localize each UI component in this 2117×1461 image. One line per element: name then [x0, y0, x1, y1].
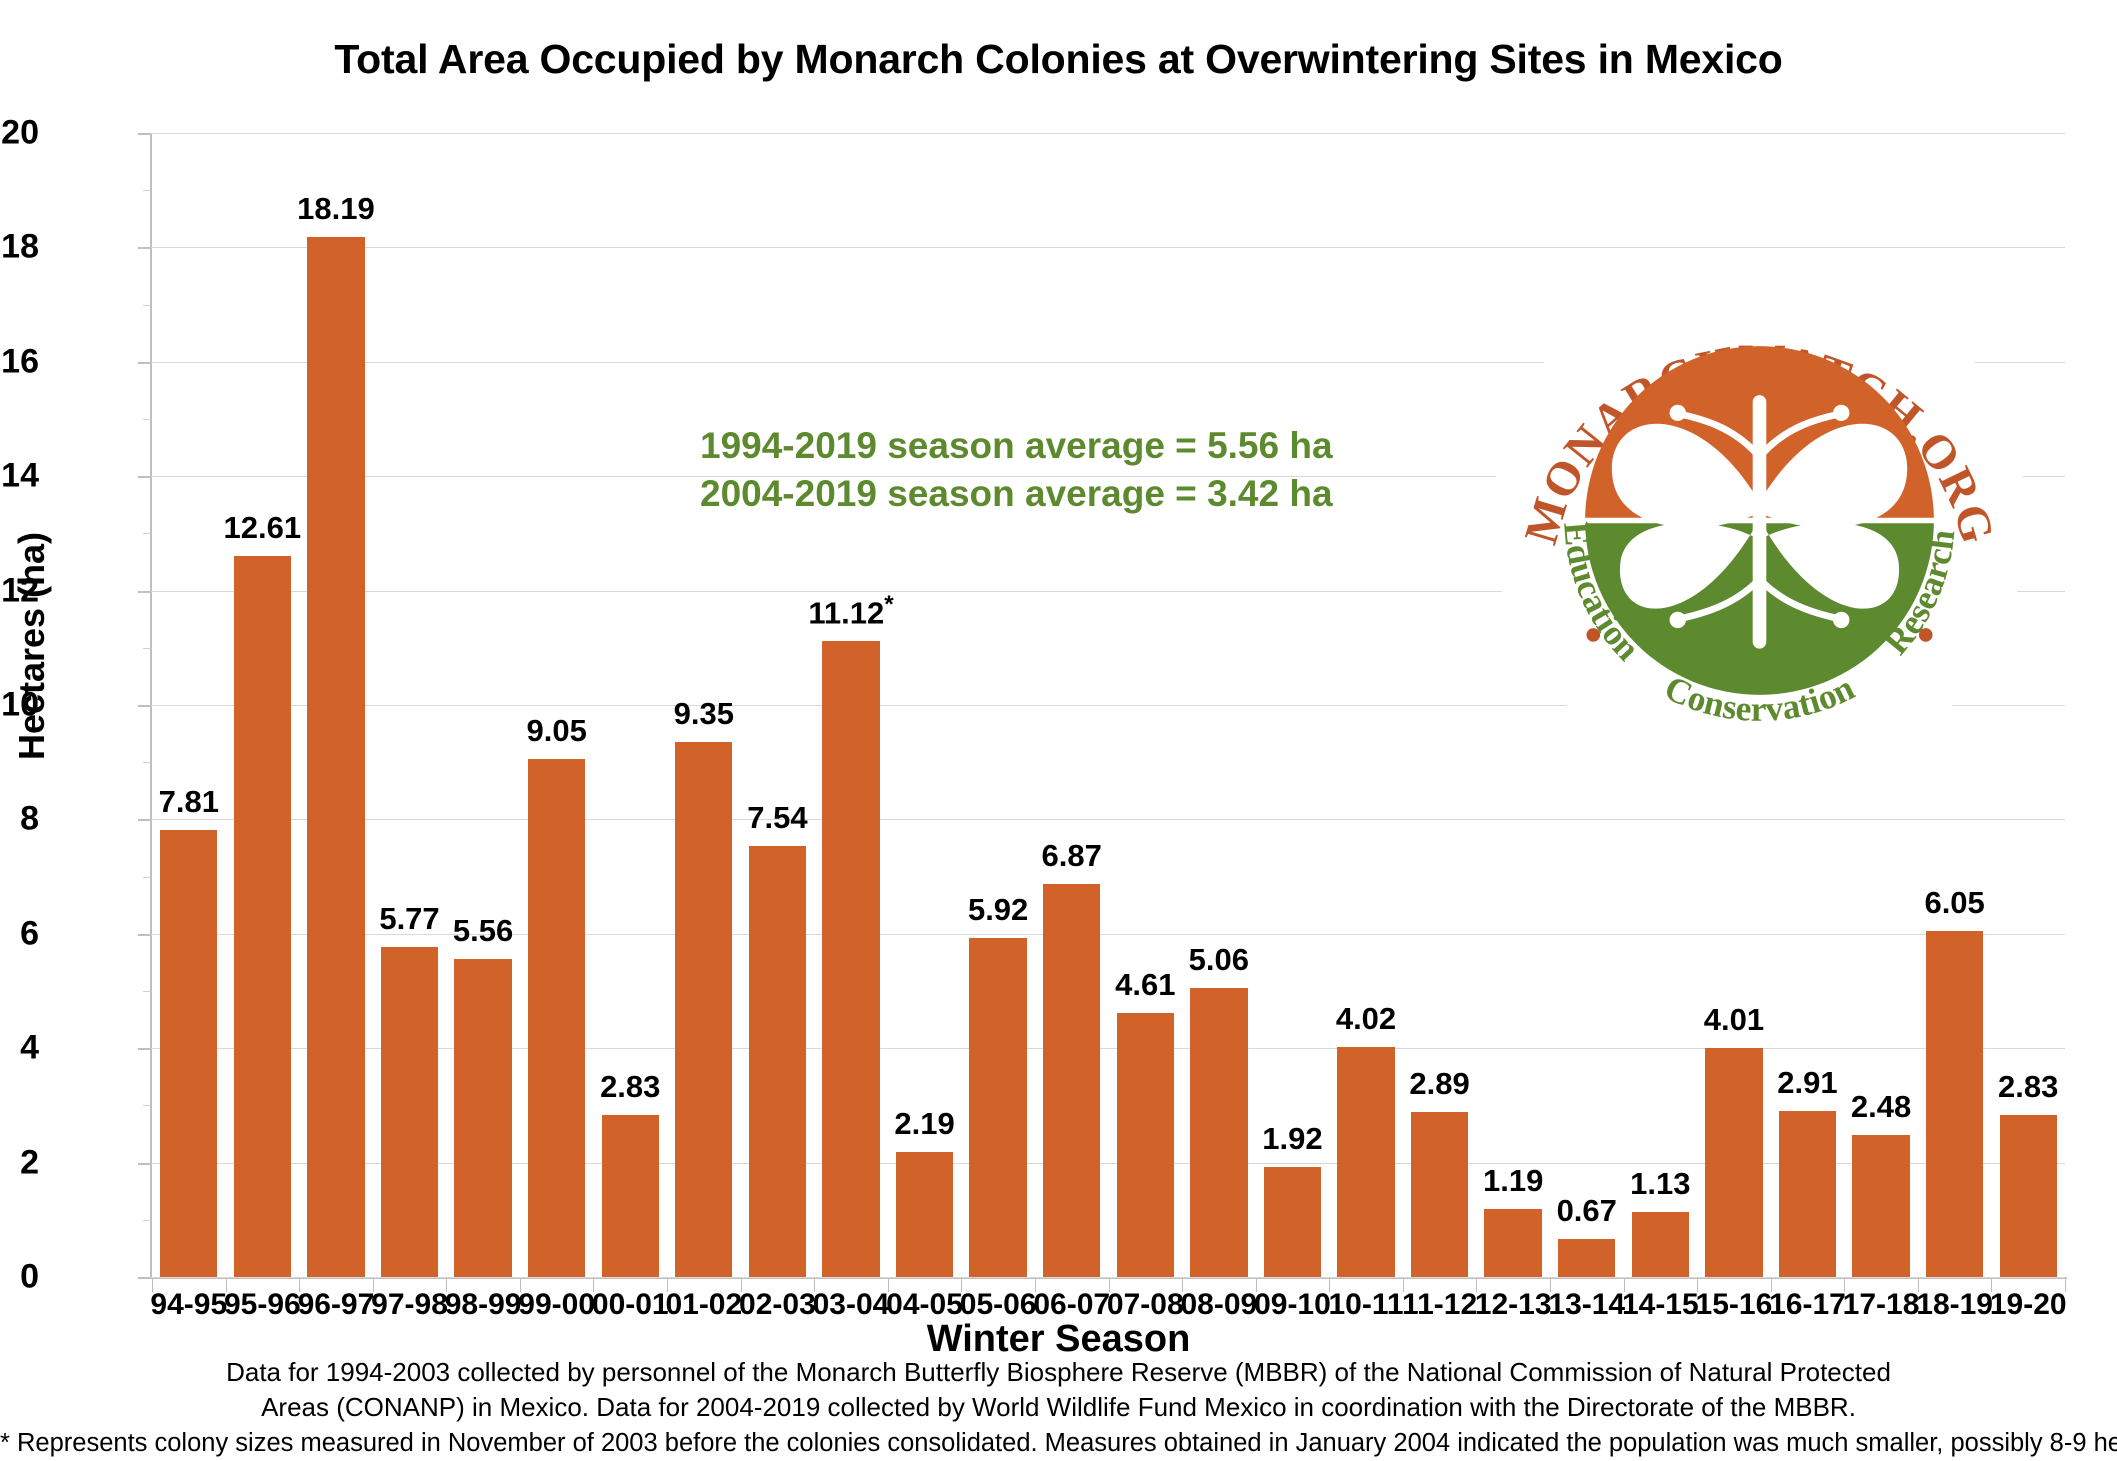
bar-slot: 9.05: [520, 133, 594, 1277]
x-axis-tick-label: 94-95: [150, 1288, 227, 1322]
bar[interactable]: [2000, 1115, 2057, 1277]
x-axis-tick-label: 13-14: [1548, 1288, 1625, 1322]
bar-value-label: 9.05: [526, 713, 586, 749]
bar-value-label: 1.92: [1262, 1121, 1322, 1157]
bar-value-label: 2.19: [894, 1106, 954, 1142]
season-average-annotations: 1994-2019 season average = 5.56 ha 2004-…: [700, 422, 1333, 518]
x-axis-tick-label: 07-08: [1107, 1288, 1184, 1322]
bar-slot: 2.83: [593, 133, 667, 1277]
bar-slot: 5.56: [446, 133, 520, 1277]
x-axis-tick-label: 02-03: [739, 1288, 816, 1322]
bar[interactable]: [749, 846, 806, 1277]
y-tick-major: [138, 133, 151, 135]
bar-value-label: 1.13: [1630, 1166, 1690, 1202]
y-axis-tick-label: 20: [0, 114, 39, 153]
bar-slot: 1.92: [1256, 133, 1330, 1277]
footnote-line-1: Data for 1994-2003 collected by personne…: [0, 1355, 2117, 1390]
y-tick-minor: [143, 190, 151, 191]
bar[interactable]: [675, 742, 732, 1277]
bar[interactable]: [1852, 1135, 1909, 1277]
bar[interactable]: [1411, 1112, 1468, 1277]
y-tick-major: [138, 476, 151, 478]
bar-slot: 4.61: [1109, 133, 1183, 1277]
bar-slot: 4.02: [1329, 133, 1403, 1277]
annotation-2004-2019: 2004-2019 season average = 3.42 ha: [700, 470, 1333, 518]
bar[interactable]: [454, 959, 511, 1277]
y-axis-tick-label: 6: [0, 914, 39, 953]
bar-value-label: 2.91: [1777, 1065, 1837, 1101]
x-axis-tick-label: 96-97: [298, 1288, 375, 1322]
bar-slot: 5.92: [961, 133, 1035, 1277]
bar-value-label: 6.87: [1042, 838, 1102, 874]
bar-slot: 2.89: [1403, 133, 1477, 1277]
x-axis-tick-label: 05-06: [960, 1288, 1037, 1322]
y-axis-tick-label: 2: [0, 1143, 39, 1182]
y-tick-minor: [143, 419, 151, 420]
x-axis-tick-label: 04-05: [886, 1288, 963, 1322]
bar-value-label: 4.02: [1336, 1001, 1396, 1037]
bar[interactable]: [528, 759, 585, 1277]
y-tick-major: [138, 1163, 151, 1165]
y-tick-major: [138, 934, 151, 936]
bar[interactable]: [307, 237, 364, 1277]
y-tick-minor: [143, 762, 151, 763]
bar-value-label: 9.35: [674, 696, 734, 732]
bar[interactable]: [969, 938, 1026, 1277]
bar[interactable]: [602, 1115, 659, 1277]
bar-slot: 11.12*: [814, 133, 888, 1277]
y-tick-minor: [143, 991, 151, 992]
bar[interactable]: [1337, 1047, 1394, 1277]
x-axis-tick-label: 12-13: [1475, 1288, 1552, 1322]
bar-slot: 9.35: [667, 133, 741, 1277]
bar[interactable]: [234, 556, 291, 1277]
x-axis-tick-label: 18-19: [1916, 1288, 1993, 1322]
bar-slot: 18.19: [299, 133, 373, 1277]
bar-value-label: 5.56: [453, 913, 513, 949]
x-axis-tick-label: 10-11: [1328, 1288, 1403, 1322]
bar-value-label: 2.48: [1851, 1089, 1911, 1125]
x-axis-tick-label: 15-16: [1696, 1288, 1773, 1322]
bar-value-label: 12.61: [224, 510, 302, 546]
bar[interactable]: [1264, 1167, 1321, 1277]
bar-slot: 12.61: [226, 133, 300, 1277]
monarch-watch-logo: MONARCHWATCH.ORG Education Conservation …: [1487, 248, 2032, 793]
x-axis-tick-label: 11-12: [1402, 1288, 1477, 1322]
footnote-line-3: * Represents colony sizes measured in No…: [0, 1426, 2117, 1461]
bar-value-label: 5.77: [379, 901, 439, 937]
y-tick-minor: [143, 1105, 151, 1106]
page-title: Total Area Occupied by Monarch Colonies …: [0, 36, 2117, 83]
bar[interactable]: [1117, 1013, 1174, 1277]
y-tick-minor: [143, 648, 151, 649]
bar[interactable]: [1484, 1209, 1541, 1277]
x-axis-tick-label: 01-02: [665, 1288, 742, 1322]
bar-value-label: 4.61: [1115, 967, 1175, 1003]
x-axis-tick-label: 00-01: [592, 1288, 669, 1322]
footnote-line-2: Areas (CONANP) in Mexico. Data for 2004-…: [0, 1390, 2117, 1425]
logo-svg: MONARCHWATCH.ORG Education Conservation …: [1487, 248, 2032, 793]
bar[interactable]: [1190, 988, 1247, 1277]
bar-value-label: 6.05: [1924, 885, 1984, 921]
annotation-1994-2019: 1994-2019 season average = 5.56 ha: [700, 422, 1333, 470]
bar[interactable]: [1043, 884, 1100, 1277]
bar-value-label: 5.06: [1189, 942, 1249, 978]
y-tick-major: [138, 591, 151, 593]
x-axis-tick-label: 08-09: [1180, 1288, 1257, 1322]
bar-value-label: 2.89: [1409, 1066, 1469, 1102]
y-axis-tick-label: 16: [0, 342, 39, 381]
bar-value-label: 1.19: [1483, 1163, 1543, 1199]
bar-value-label: 7.81: [159, 784, 219, 820]
bar-value-label: 11.12*: [808, 591, 893, 631]
y-axis-tick-label: 0: [0, 1258, 39, 1297]
bar-value-label: 2.83: [600, 1069, 660, 1105]
bar-value-label: 5.92: [968, 892, 1028, 928]
bar-slot: 5.06: [1182, 133, 1256, 1277]
bar-value-label: 0.67: [1557, 1193, 1617, 1229]
bar[interactable]: [1779, 1111, 1836, 1277]
x-axis-tick-label: 95-96: [224, 1288, 301, 1322]
y-tick-major: [138, 705, 151, 707]
x-axis-tick-label: 03-04: [813, 1288, 890, 1322]
bar-value-label: 7.54: [747, 800, 807, 836]
x-axis-tick-label: 06-07: [1033, 1288, 1110, 1322]
y-tick-major: [138, 362, 151, 364]
bar-slot: 7.81: [152, 133, 226, 1277]
x-axis-tick-label: 17-18: [1843, 1288, 1920, 1322]
x-axis-tick-label: 98-99: [445, 1288, 522, 1322]
bar-slot: 6.87: [1035, 133, 1109, 1277]
x-axis-tick-label: 99-00: [518, 1288, 595, 1322]
logo-dot-right: [1919, 628, 1933, 642]
y-tick-major: [138, 819, 151, 821]
bar[interactable]: [381, 947, 438, 1277]
x-axis-tick-label: 19-20: [1990, 1288, 2067, 1322]
y-axis-title: Hectares (ha): [11, 386, 53, 906]
x-axis-tick-label: 16-17: [1769, 1288, 1846, 1322]
y-tick-major: [138, 1277, 151, 1279]
bar-slot: 2.19: [888, 133, 962, 1277]
bar[interactable]: [822, 641, 879, 1277]
x-axis-tick-label: 97-98: [371, 1288, 448, 1322]
gridline: [150, 1277, 2065, 1278]
bar-value-label: 18.19: [297, 191, 375, 227]
y-tick-minor: [143, 533, 151, 534]
bar-slot: 7.54: [741, 133, 815, 1277]
bar[interactable]: [160, 830, 217, 1277]
bar-slot: 5.77: [373, 133, 447, 1277]
bar-value-label: 2.83: [1998, 1069, 2058, 1105]
bar[interactable]: [896, 1152, 953, 1277]
y-tick-major: [138, 247, 151, 249]
footnotes: Data for 1994-2003 collected by personne…: [0, 1355, 2117, 1460]
y-tick-minor: [143, 877, 151, 878]
y-axis-tick-label: 18: [0, 228, 39, 267]
bar[interactable]: [1558, 1239, 1615, 1277]
y-tick-minor: [143, 1220, 151, 1221]
y-tick-major: [138, 1048, 151, 1050]
x-axis-tick-label: 14-15: [1622, 1288, 1699, 1322]
bar[interactable]: [1705, 1048, 1762, 1277]
y-tick-minor: [143, 305, 151, 306]
bar[interactable]: [1926, 931, 1983, 1277]
y-axis-tick-label: 4: [0, 1029, 39, 1068]
logo-dot-left: [1586, 628, 1600, 642]
bar[interactable]: [1632, 1212, 1689, 1277]
x-axis-tick-label: 09-10: [1254, 1288, 1331, 1322]
bar-value-label: 4.01: [1704, 1002, 1764, 1038]
